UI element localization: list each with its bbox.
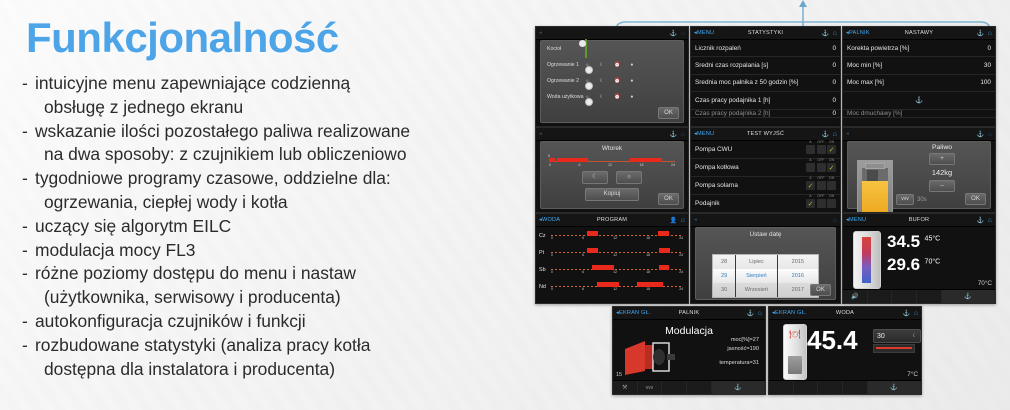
toolbar-slot[interactable] (892, 290, 917, 303)
modulation-heading: Modulacja (613, 320, 765, 337)
bullet-line-1: wskazanie ilości pozostałego paliwa real… (35, 121, 410, 141)
bullet-dash: - (22, 239, 35, 263)
row-label: Pompa solarna (695, 182, 806, 189)
list-item: - autokonfiguracja czujników i funkcji (22, 310, 518, 334)
wrench-icon[interactable]: ⚓ (977, 217, 985, 224)
tick-label: 18 (646, 253, 650, 257)
mode-cell-on[interactable]: ON✓ (827, 145, 836, 154)
screen-weekly-day-program[interactable]: ◂ ⚓ ⌂ Wtorek 0 0 6 12 (535, 127, 689, 213)
row-label: Woda użytkowa (547, 94, 585, 100)
tick-label: 0 (551, 253, 553, 257)
timeline-ticks: 0 6 12 18 24 (551, 253, 683, 257)
screen-title: STATYSTYKI (691, 30, 840, 36)
tick-label: 12 (613, 253, 617, 257)
tick-label: 24 (679, 270, 683, 274)
slider-knob[interactable] (585, 98, 593, 106)
tick-label: 0 (549, 163, 551, 167)
table-row[interactable]: Pompa CWU A OFF ON✓ (691, 141, 840, 159)
day-column[interactable]: 28 29 30 (713, 255, 736, 297)
fuel-dialog: Paliwo + 142kg – vvv 30s OK (847, 141, 991, 209)
tick-label: 18 (640, 163, 644, 167)
mode-cell-off[interactable]: OFF (817, 199, 826, 208)
tools-icon[interactable]: ⚒ (613, 381, 638, 394)
back-label: ◂ (536, 30, 542, 36)
toolbar-slot[interactable] (687, 381, 712, 394)
feature-bullet-list: - intuicyjne menu zapewniające codzienną… (22, 72, 518, 381)
mode-cell-auto[interactable]: A✓ (806, 181, 815, 190)
bullet-dash: - (22, 334, 35, 382)
toolbar-slot[interactable] (794, 381, 819, 394)
screen-statistics[interactable]: ◂MENU STATYSTYKI ⚓ ⌂ Licznik rozpaleń 0 … (690, 26, 841, 127)
buffer-bottom-reading: 29.6 70°C (887, 255, 940, 275)
header-icons: ⚓ ⌂ (903, 310, 918, 317)
home-icon[interactable]: ⌂ (833, 30, 837, 37)
fuel-time-value: 30s (917, 197, 927, 203)
list-item: - wskazanie ilości pozostałego paliwa re… (22, 120, 518, 168)
cell-tag: OFF (817, 158, 826, 162)
moon-icon[interactable]: ☾ (600, 94, 604, 100)
screen-water-program[interactable]: ◂WODA PROGRAM 👤 ⌂ Cz 0 6 12 18 (535, 213, 689, 304)
back-button[interactable]: ◂ (843, 131, 849, 137)
outside-temp: 7°C (907, 371, 918, 378)
bullet-text: uczący się algorytm EILC (35, 215, 518, 239)
mode-icons[interactable]: ☼ ☾ ⏰ ● (585, 78, 683, 84)
bullet-dash: - (22, 310, 35, 334)
tick-label: 6 (582, 270, 584, 274)
mode-selector[interactable]: A OFF ON✓ (806, 145, 836, 154)
row-label: Kocioł (547, 46, 585, 52)
day-timeline[interactable]: 0 6 12 18 24 (551, 247, 683, 259)
screen-title: BUFOR (843, 217, 995, 223)
user-icon[interactable]: 👤 (670, 217, 678, 224)
screen-title: PALNIK (613, 310, 765, 316)
fan-icon[interactable]: vvv (896, 194, 914, 205)
table-row[interactable]: Czas pracy podajnika 1 [h] 0 (691, 92, 840, 109)
row-value: 0 (832, 110, 836, 117)
quick-settings-dialog: Kocioł Ogrzewanie 1 ☼ ☾ ⏰ ● (540, 40, 684, 123)
tick-label: 18 (646, 270, 650, 274)
table-row[interactable]: Moc max [%] 100 (843, 75, 995, 92)
decrease-button[interactable]: – (929, 180, 955, 192)
back-button[interactable]: ◂ (536, 131, 542, 137)
table-row[interactable]: Moc min [%] 30 (843, 57, 995, 74)
cell-tag: ON (827, 194, 836, 198)
mode-selector[interactable]: A✓ OFF ON (806, 199, 836, 208)
dhw-tank-graphic: 🍽 (783, 324, 807, 380)
status-bar: ◂WODA PROGRAM 👤 ⌂ (536, 214, 688, 227)
screen-output-test[interactable]: ◂MENU TEST WYJŚĆ ⚓ ⌂ Pompa CWU A OFF ON✓… (690, 127, 841, 213)
wrench-icon[interactable]: ⚓ (942, 290, 995, 303)
table-row[interactable]: Średni czas rozpalania [s] 0 (691, 57, 840, 74)
tick-label: 24 (671, 163, 675, 167)
bullet-line-2: (użytkownika, serwisowy i producenta) (35, 286, 518, 310)
screen-title: NASTAWY (843, 30, 995, 36)
screen-buffer[interactable]: ◂MENU BUFOR ⚓ ⌂ 34.5 45°C 29.6 70°C 70°C… (842, 213, 996, 304)
row-control[interactable]: ☼ ☾ ⏰ ● (585, 62, 683, 68)
toolbar-slot[interactable] (917, 290, 942, 303)
home-icon[interactable]: ⌂ (988, 217, 992, 224)
bullet-text: rozbudowane statystyki (analiza pracy ko… (35, 334, 518, 382)
row-label: Moc max [%] (847, 79, 980, 86)
list-item: - modulacja mocy FL3 (22, 239, 518, 263)
status-bar: ◂ ⚓ ⌂ (536, 128, 688, 141)
mode-cell-off[interactable]: OFF (817, 145, 826, 154)
row-label: Korekta powietrza [%] (847, 45, 987, 52)
day-label: Pt (539, 250, 551, 256)
tick-label: 6 (579, 163, 581, 167)
tick-label: 6 (582, 236, 584, 240)
wrench-icon[interactable]: ⚓ (868, 381, 921, 394)
row-label: Ogrzewanie 2 (547, 78, 585, 84)
list-item: - intuicyjne menu zapewniające codzienną… (22, 72, 518, 120)
tick-label: 18 (646, 236, 650, 240)
table-row[interactable]: Nd 0 6 12 18 24 (536, 278, 688, 295)
bottom-toolbar[interactable]: ⚒ vvv ⚓ (613, 380, 765, 394)
home-icon[interactable]: ⌂ (914, 310, 918, 317)
row-value: 0 (832, 45, 836, 52)
row-value: 0 (832, 97, 836, 104)
readout-temperature: temperatura=31 (719, 360, 759, 366)
home-icon: ⌂ (681, 131, 685, 138)
temp-bottom-setpoint: 70°C (925, 259, 941, 266)
day-label: Cz (539, 233, 551, 239)
bottom-toolbar[interactable]: 🔊 ⚓ (843, 289, 995, 303)
wrench-icon[interactable]: ⚓ (977, 30, 985, 37)
outside-temp: 70°C (978, 280, 992, 287)
mode-cell-auto[interactable]: A (806, 163, 815, 172)
table-row[interactable]: Podajnik A✓ OFF ON (691, 195, 840, 213)
cell-tag: ON (827, 158, 836, 162)
slide-text-column: Funkcjonalność - intuicyjne menu zapewni… (0, 0, 520, 410)
toolbar-slot[interactable] (818, 381, 843, 394)
toolbar-slot[interactable] (868, 290, 893, 303)
mode-cell-on[interactable]: ON (827, 181, 836, 190)
moon-icon[interactable]: ☾ (600, 62, 604, 68)
spinner-item[interactable]: Wrzesień (736, 283, 776, 297)
bullet-line-1: rozbudowane statystyki (analiza pracy ko… (35, 335, 370, 355)
header-icons: ⚓ ⌂ (822, 30, 837, 37)
ok-button[interactable]: OK (658, 193, 679, 205)
dialog-title: Paliwo (898, 144, 986, 151)
list-item: - tygodniowe programy czasowe, oddzielne… (22, 167, 518, 215)
tick-label: 12 (613, 270, 617, 274)
mode-selector[interactable]: A OFF ON✓ (806, 163, 836, 172)
mode-cell-auto[interactable]: A✓ (806, 199, 815, 208)
bullet-text: intuicyjne menu zapewniające codzienną o… (35, 72, 518, 120)
day-mode-button[interactable]: ☼ (616, 171, 642, 184)
timeline-block[interactable] (549, 158, 555, 163)
row-label: Moc min [%] (847, 62, 984, 69)
table-row[interactable]: Sb 0 6 12 18 24 (536, 261, 688, 278)
row-value: 100 (980, 79, 991, 86)
tank-sensor-box (867, 170, 878, 181)
speaker-icon[interactable]: 🔊 (843, 290, 868, 303)
table-row[interactable]: Pt 0 6 12 18 24 (536, 244, 688, 261)
thermometer-icon[interactable]: ● (630, 62, 633, 68)
mode-cell-off[interactable]: OFF (817, 181, 826, 190)
screen-main-burner[interactable]: ◂EKRAN GŁ. PALNIK ⚓ ⌂ Modulacja moc[%]=2… (612, 306, 766, 395)
spinner-item[interactable]: 2015 (778, 255, 818, 269)
month-column[interactable]: Lipiec Sierpień Wrzesień (736, 255, 777, 297)
home-icon: ⌂ (988, 131, 992, 138)
wrench-icon: ⚓ (670, 131, 678, 138)
mode-cell-auto[interactable]: A (806, 145, 815, 154)
fuel-amount: 142kg (898, 168, 986, 177)
home-icon: ⌂ (681, 30, 685, 37)
status-bar: ◂MENU BUFOR ⚓ ⌂ (843, 214, 995, 227)
tank-lid (865, 163, 885, 169)
cell-tag: A (806, 176, 815, 180)
timeline-block[interactable] (557, 158, 588, 163)
moon-icon: ☾ (592, 174, 597, 180)
toolbar-slot[interactable] (843, 381, 868, 394)
tick-label: 0 (551, 236, 553, 240)
table-row[interactable]: Średnia moc palnika z 50 godzin [%] 0 (691, 75, 840, 92)
thermometer-icon[interactable]: ● (630, 94, 633, 100)
ok-button[interactable]: OK (810, 284, 831, 296)
home-icon[interactable]: ⌂ (833, 131, 837, 138)
clock-icon[interactable]: ⏰ (614, 78, 620, 84)
spinner-item-selected[interactable]: Sierpień (736, 269, 776, 283)
tick-label: 12 (613, 287, 617, 291)
bullet-dash: - (22, 167, 35, 215)
home-icon: ⌂ (833, 217, 837, 224)
status-bar: ◂EKRAN GŁ. WODA ⚓ ⌂ (769, 307, 921, 320)
thermometer-icon[interactable]: ● (630, 78, 633, 84)
spinner-item-selected[interactable]: 2016 (778, 269, 818, 283)
toolbar-slot[interactable] (662, 381, 687, 394)
date-spinner[interactable]: 28 29 30 Lipiec Sierpień Wrzesień 2015 2… (712, 254, 819, 298)
table-row[interactable]: Licznik rozpaleń 0 (691, 40, 840, 57)
wrench-icon[interactable]: ⚓ (903, 310, 911, 317)
list-item: - różne poziomy dostępu do menu i nastaw… (22, 262, 518, 310)
dialog-title: Ustaw datę (696, 228, 835, 238)
row-label: Średni czas rozpalania [s] (695, 62, 832, 69)
slider-knob[interactable] (585, 82, 593, 90)
setpoint-pill[interactable]: 30 ☾ (873, 329, 921, 343)
cell-tag: OFF (817, 194, 826, 198)
list-item: - uczący się algorytm EILC (22, 215, 518, 239)
cell-tag: ON (827, 140, 836, 144)
page-title: Funkcjonalność (26, 14, 339, 62)
temp-top-value: 34.5 (887, 232, 920, 251)
readout-brightness: jasność=190 (727, 346, 759, 352)
row-label: Moc dmuchawy [%] (847, 110, 991, 117)
timeline-ticks: 0 6 12 18 24 (551, 236, 683, 240)
temperature-gradient (862, 237, 871, 283)
toolbar-slot[interactable] (769, 381, 794, 394)
screen-quick-settings[interactable]: ◂ ⚓ ⌂ Kocioł Ogrzewanie 1 ☼ ☾ ⏰ (535, 26, 689, 127)
bullet-text: różne poziomy dostępu do menu i nastaw (… (35, 262, 518, 310)
fan-icon[interactable]: vvv (638, 381, 663, 394)
wrench-icon: ⚓ (670, 30, 678, 37)
mode-icons[interactable]: ☼ ☾ ⏰ ● (585, 62, 683, 68)
ok-button[interactable]: OK (658, 107, 679, 119)
clock-icon[interactable]: ⏰ (614, 62, 620, 68)
header-icons: ⚓ ⌂ (977, 30, 992, 37)
status-bar: ◂ ⚓ ⌂ (536, 27, 688, 40)
row-control[interactable]: ☼ ☾ ⏰ ● (585, 78, 683, 84)
timeline-ticks: 0 6 12 18 24 (549, 163, 675, 167)
day-label: Nd (539, 284, 551, 290)
tick-label: 24 (679, 287, 683, 291)
row-label: Licznik rozpaleń (695, 45, 832, 52)
tick-label: 24 (679, 236, 683, 240)
screen-burner-settings[interactable]: ◂PALNIK NASTAWY ⚓ ⌂ Korekta powietrza [%… (842, 26, 996, 127)
day-label: Sb (539, 267, 551, 273)
timeline-ticks: 0 6 12 18 24 (551, 270, 683, 274)
fuel-tank-graphic (857, 160, 893, 213)
status-bar: ◂ ⌂ (691, 214, 840, 227)
back-button[interactable]: ◂ (691, 217, 697, 223)
table-row[interactable]: Pompa solarna A✓ OFF ON (691, 177, 840, 195)
row-label: Pompa kotłowa (695, 164, 806, 171)
day-program-dialog: Wtorek 0 0 6 12 18 24 (540, 141, 684, 209)
bottom-toolbar[interactable]: ⚓ (769, 380, 921, 394)
tick-label: 0 (551, 287, 553, 291)
header-icons: 👤 ⌂ (670, 217, 685, 224)
boiler-toggle[interactable] (585, 39, 587, 58)
screen-fuel-level[interactable]: ◂ ⚓ ⌂ Paliwo + 142kg – vvv (842, 127, 996, 213)
schedule-active-span (876, 347, 912, 349)
wrench-icon: ⚓ (915, 96, 923, 104)
bullet-line-2: obsługę z jednego ekranu (35, 96, 518, 120)
timeline-ticks: 0 6 12 18 24 (551, 287, 683, 291)
day-timeline[interactable]: 0 6 12 18 24 (549, 156, 675, 165)
bullet-line-2: dostępna dla instalatora i producenta) (35, 358, 518, 382)
header-icons: ⚓ ⌂ (822, 131, 837, 138)
home-icon[interactable]: ⌂ (758, 310, 762, 317)
corner-value: 15 (616, 372, 622, 378)
bullet-text: tygodniowe programy czasowe, oddzielne d… (35, 167, 518, 215)
row-label: Średnia moc palnika z 50 godzin [%] (695, 79, 832, 86)
status-bar: ◂EKRAN GŁ. PALNIK ⚓ ⌂ (613, 307, 765, 320)
copy-button[interactable]: Kopiuj (585, 188, 639, 201)
list-item[interactable]: Kocioł (541, 41, 683, 57)
program-day-rows: Cz 0 6 12 18 24 Pt (536, 227, 688, 295)
row-control[interactable] (585, 40, 683, 58)
wrench-icon[interactable]: ⚓ (822, 30, 830, 37)
row-label: Ogrzewanie 1 (547, 62, 585, 68)
mode-icons[interactable]: ☼ ☾ ⏰ ● (585, 94, 683, 100)
header-icons: ⚓ ⌂ (670, 30, 685, 37)
fuel-level-fill (862, 181, 888, 213)
set-date-dialog: Ustaw datę 28 29 30 Lipiec Sierpień Wrze… (695, 227, 836, 300)
bullet-dash: - (22, 262, 35, 310)
tick-label: 0 (551, 270, 553, 274)
spinner-item[interactable]: Lipiec (736, 255, 776, 269)
bullet-line-2: na dwa sposoby: z czujnikiem lub oblicze… (35, 143, 518, 167)
header-icons: ⚓ ⌂ (977, 131, 992, 138)
mode-cell-on[interactable]: ON✓ (827, 163, 836, 172)
device-screens-grid: ◂ ⚓ ⌂ Kocioł Ogrzewanie 1 ☼ ☾ ⏰ (535, 26, 1009, 410)
row-label: Pompa CWU (695, 146, 806, 153)
spinner-item[interactable]: 28 (713, 255, 735, 269)
water-temperature: 45.4 (807, 327, 858, 353)
cell-tag: A (806, 140, 815, 144)
tick-label: 24 (679, 253, 683, 257)
row-value: 0 (832, 62, 836, 69)
burner-graphic (623, 337, 677, 377)
table-row[interactable]: Czas pracy podajnika 2 [h] 0 (691, 110, 840, 118)
bullet-line-1: tygodniowe programy czasowe, oddzielne d… (35, 168, 391, 188)
moon-icon: ☾ (913, 333, 917, 339)
wrench-icon[interactable]: ⚓ (747, 310, 755, 317)
day-timeline[interactable]: 0 6 12 18 24 (551, 281, 683, 293)
increase-button[interactable]: + (929, 153, 955, 165)
home-icon[interactable]: ⌂ (988, 30, 992, 37)
clock-icon[interactable]: ⏰ (614, 94, 620, 100)
tick-label: 6 (582, 287, 584, 291)
header-icons: ⌂ (833, 217, 837, 224)
wrench-icon[interactable]: ⚓ (822, 131, 830, 138)
tick-label: 18 (646, 287, 650, 291)
cell-tag: OFF (817, 140, 826, 144)
row-label: Podajnik (695, 200, 806, 207)
row-control[interactable]: ☼ ☾ ⏰ ● (585, 94, 683, 100)
screen-set-date[interactable]: ◂ ⌂ Ustaw datę 28 29 30 Lipiec Sierpień … (690, 213, 841, 304)
row-label: Czas pracy podajnika 2 [h] (695, 110, 832, 117)
row-value: 0 (987, 45, 991, 52)
cell-tag: A (806, 158, 815, 162)
screen-title: TEST WYJŚĆ (691, 131, 840, 137)
tick-label: 12 (608, 163, 612, 167)
screen-title: WODA (769, 310, 921, 316)
tap-icon: 🍽 (789, 329, 800, 340)
schedule-minibar[interactable] (873, 344, 915, 353)
status-bar: ◂PALNIK NASTAWY ⚓ ⌂ (843, 27, 995, 40)
setpoint-value: 30 (877, 333, 885, 340)
table-row[interactable]: Pompa kotłowa A OFF ON✓ (691, 159, 840, 177)
bullet-dash: - (22, 120, 35, 168)
timeline-block[interactable] (630, 158, 662, 163)
bullet-text: wskazanie ilości pozostałego paliwa real… (35, 120, 518, 168)
list-item[interactable]: Woda użytkowa ☼ ☾ ⏰ ● (541, 89, 683, 105)
header-icons: ⚓ ⌂ (747, 310, 762, 317)
spinner-item[interactable]: 30 (713, 283, 735, 297)
table-row[interactable]: Korekta powietrza [%] 0 (843, 40, 995, 57)
day-timeline[interactable]: 0 6 12 18 24 (551, 264, 683, 276)
wrench-icon[interactable]: ⚓ (712, 381, 765, 394)
row-label: Czas pracy podajnika 1 [h] (695, 97, 832, 104)
table-row[interactable]: Cz 0 6 12 18 24 (536, 227, 688, 244)
ok-button[interactable]: OK (965, 193, 986, 205)
table-row[interactable]: Moc dmuchawy [%] (843, 110, 995, 118)
slider-knob[interactable] (585, 66, 593, 74)
mode-cell-on[interactable]: ON (827, 199, 836, 208)
home-icon[interactable]: ⌂ (681, 217, 685, 224)
readout-power: moc[%]=27 (731, 337, 759, 343)
day-timeline[interactable]: 0 6 12 18 24 (551, 230, 683, 242)
screen-main-water[interactable]: ◂EKRAN GŁ. WODA ⚓ ⌂ 🍽 45.4 30 ☾ 7°C ⚓ (768, 306, 922, 395)
tick-label: 6 (582, 253, 584, 257)
spinner-item-selected[interactable]: 29 (713, 269, 735, 283)
moon-icon[interactable]: ☾ (600, 78, 604, 84)
mode-cell-off[interactable]: OFF (817, 163, 826, 172)
list-item[interactable]: Ogrzewanie 1 ☼ ☾ ⏰ ● (541, 57, 683, 73)
header-icons: ⚓ ⌂ (977, 217, 992, 224)
bullet-text: autokonfiguracja czujników i funkcji (35, 310, 518, 334)
output-test-rows: Pompa CWU A OFF ON✓ Pompa kotłowa A OFF … (691, 141, 840, 213)
list-item[interactable]: Ogrzewanie 2 ☼ ☾ ⏰ ● (541, 73, 683, 89)
wrench-icon: ⚓ (977, 131, 985, 138)
statistics-rows: Licznik rozpaleń 0 Średni czas rozpalani… (691, 40, 840, 118)
row-value: 30 (984, 62, 991, 69)
mode-selector[interactable]: A✓ OFF ON (806, 181, 836, 190)
dialog-title: Wtorek (541, 142, 683, 152)
night-mode-button[interactable]: ☾ (582, 171, 608, 184)
bullet-line-1: intuicyjne menu zapewniające codzienną (35, 73, 350, 93)
